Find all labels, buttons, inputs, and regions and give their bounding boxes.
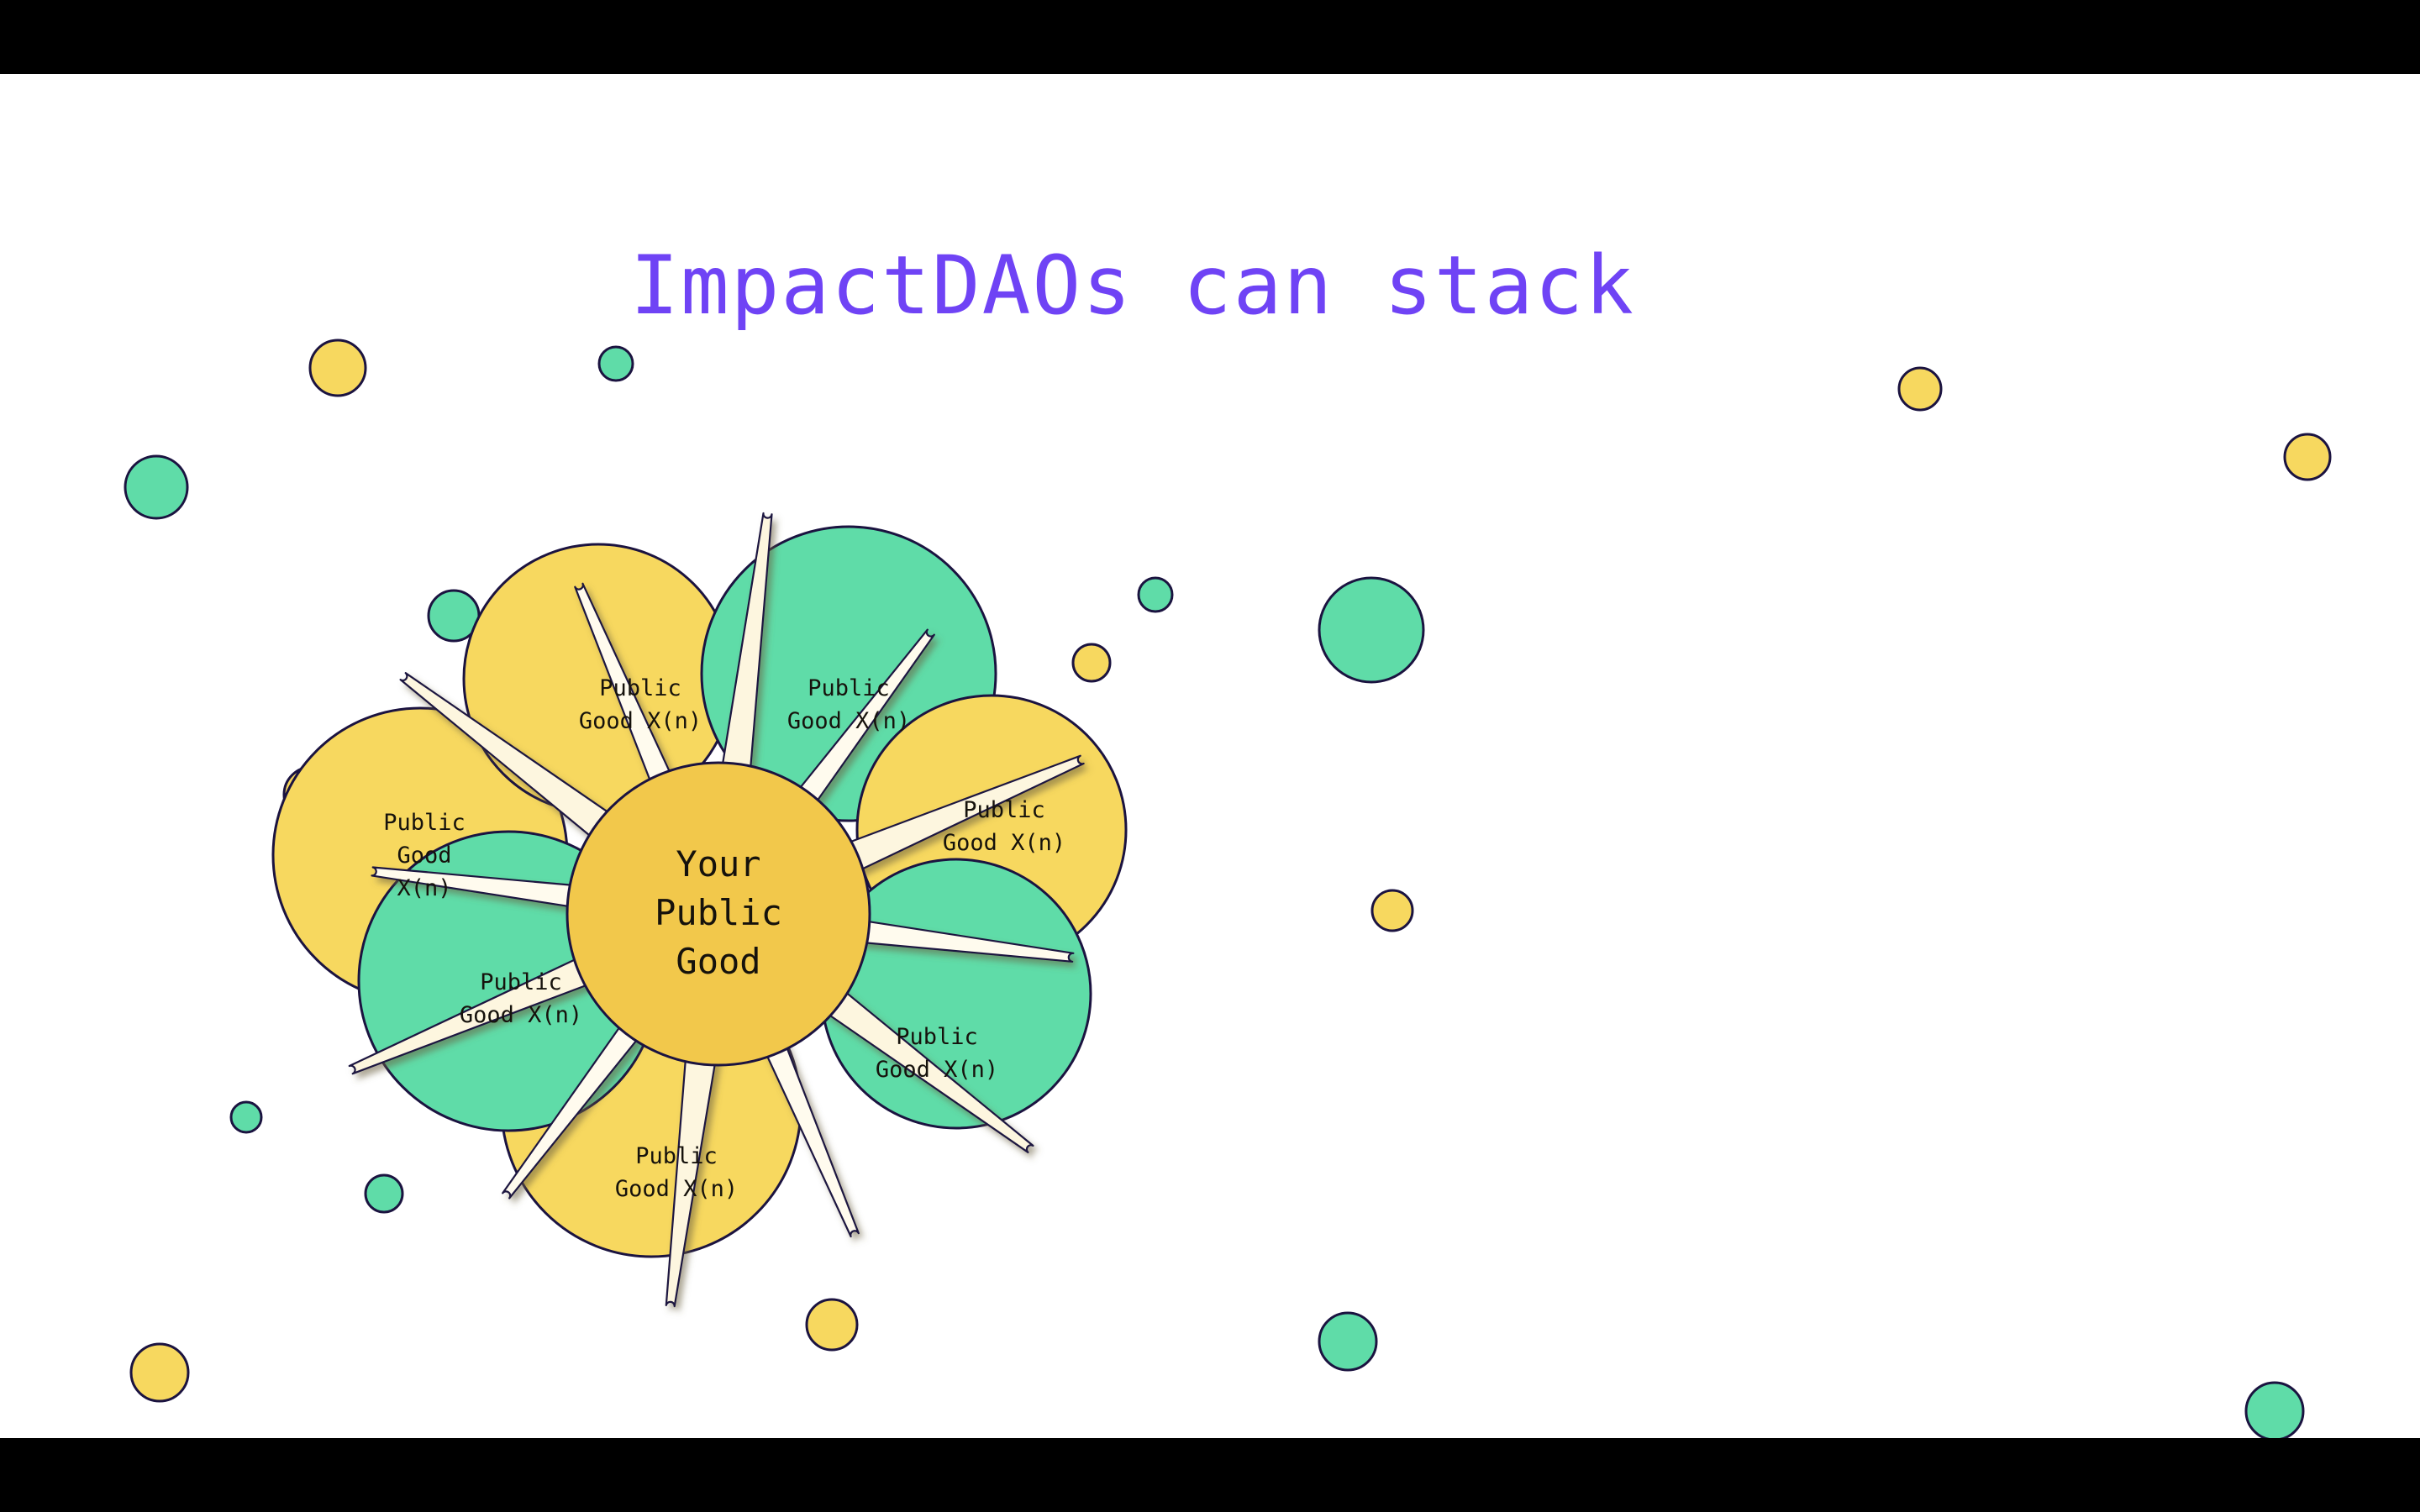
decorative-dot	[1319, 578, 1423, 682]
petal-bottom-label-line-2: Good X(n)	[615, 1176, 738, 1202]
decorative-dot	[1139, 578, 1172, 612]
impactdao-flower-diagram: Public Good X(n) Public Good X(n) Public…	[0, 74, 2420, 1438]
slide-content-area: ImpactDAOs can stack	[0, 74, 2420, 1438]
decorative-dot	[1073, 644, 1110, 681]
petal-bottom-left-label-line-2: Good X(n)	[460, 1002, 582, 1028]
petal-top-right-label-line-2: Good X(n)	[787, 708, 910, 734]
decorative-dot	[2285, 434, 2330, 480]
petal-bottom-left-label-line-1: Public	[480, 969, 562, 995]
slide-canvas: ImpactDAOs can stack	[0, 0, 2420, 1512]
petal-right-label-line-1: Public	[963, 797, 1045, 823]
decorative-dot	[231, 1102, 261, 1132]
decorative-dot	[807, 1299, 857, 1350]
decorative-dot	[310, 340, 366, 396]
petal-bottom-right-label-line-1: Public	[896, 1024, 978, 1050]
center-label-line-3: Good	[676, 941, 760, 982]
petal-top-left-label-line-2: Good X(n)	[579, 708, 702, 734]
center-node[interactable]: Your Public Good	[567, 763, 870, 1065]
decorative-dot	[1899, 368, 1941, 410]
center-label-line-1: Your	[676, 843, 760, 885]
decorative-dot	[131, 1344, 188, 1401]
decorative-dot	[1319, 1313, 1376, 1370]
letterbox-top-bar	[0, 0, 2420, 74]
petal-bottom-label-line-1: Public	[635, 1143, 718, 1169]
petal-left-label-line-2: Good	[397, 843, 451, 869]
decorative-dot	[1372, 890, 1413, 931]
petal-top-right-label-line-1: Public	[808, 675, 890, 701]
decorative-dot	[125, 456, 187, 518]
petal-bottom-right-label-line-2: Good X(n)	[876, 1057, 998, 1083]
decorative-dot	[599, 347, 633, 381]
petal-left-label-line-1: Public	[383, 810, 466, 836]
petal-top-left-label-line-1: Public	[599, 675, 681, 701]
decorative-dot	[366, 1175, 402, 1212]
letterbox-bottom-bar	[0, 1438, 2420, 1512]
center-label-line-2: Public	[655, 892, 782, 933]
flower-svg: Public Good X(n) Public Good X(n) Public…	[0, 74, 2420, 1438]
petal-right-label-line-2: Good X(n)	[943, 830, 1065, 856]
decorative-dot	[2246, 1383, 2303, 1438]
petal-left-label-line-3: X(n)	[397, 875, 451, 901]
